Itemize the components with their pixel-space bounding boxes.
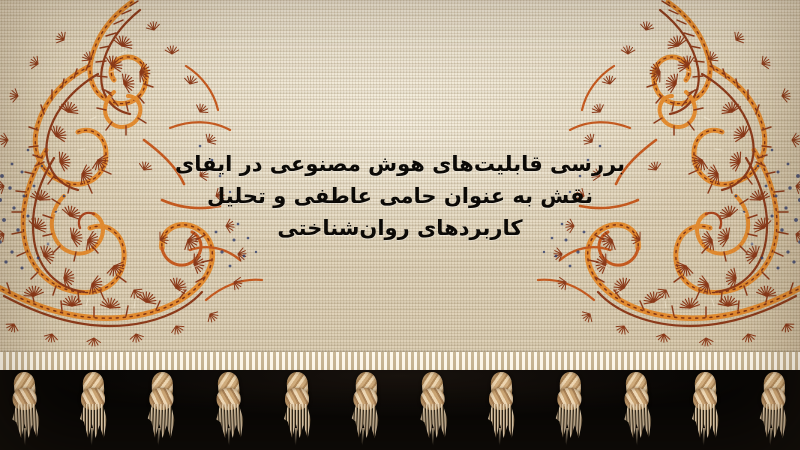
- tassel: [206, 369, 255, 449]
- tassel-skirt: [692, 404, 719, 438]
- tassel-skirt: [284, 404, 311, 438]
- tassel-skirt: [351, 403, 379, 438]
- tassel: [683, 370, 729, 448]
- tassel: [546, 369, 595, 449]
- title-line-3: کاربردهای روان‌شناختی: [0, 212, 800, 244]
- tassel-skirt: [759, 403, 787, 438]
- tassel: [342, 369, 391, 449]
- tassel-skirt: [488, 404, 515, 438]
- slide-title: بررسی قابلیت‌های هوش مصنوعی در ایفای نقش…: [0, 148, 800, 244]
- title-line-2: نقش به عنوان حامی عاطفی و تحلیل: [0, 180, 800, 212]
- tassel-skirt: [80, 404, 107, 438]
- tassel: [2, 369, 51, 449]
- tassel: [479, 370, 525, 448]
- title-slide: بررسی قابلیت‌های هوش مصنوعی در ایفای نقش…: [0, 0, 800, 450]
- tassel: [410, 369, 459, 449]
- tassel: [138, 369, 187, 449]
- tassel: [275, 370, 321, 448]
- title-line-1: بررسی قابلیت‌های هوش مصنوعی در ایفای: [0, 148, 800, 180]
- tassel-skirt: [12, 404, 40, 439]
- tassel-skirt: [624, 404, 652, 439]
- tassel-skirt: [147, 403, 175, 438]
- tassel: [614, 369, 663, 449]
- tassel: [71, 370, 117, 448]
- tassel-skirt: [216, 404, 244, 439]
- tassel-fringe: [0, 370, 800, 450]
- tassel: [750, 369, 799, 449]
- tassel-skirt: [420, 404, 448, 439]
- tassel-skirt: [555, 403, 583, 438]
